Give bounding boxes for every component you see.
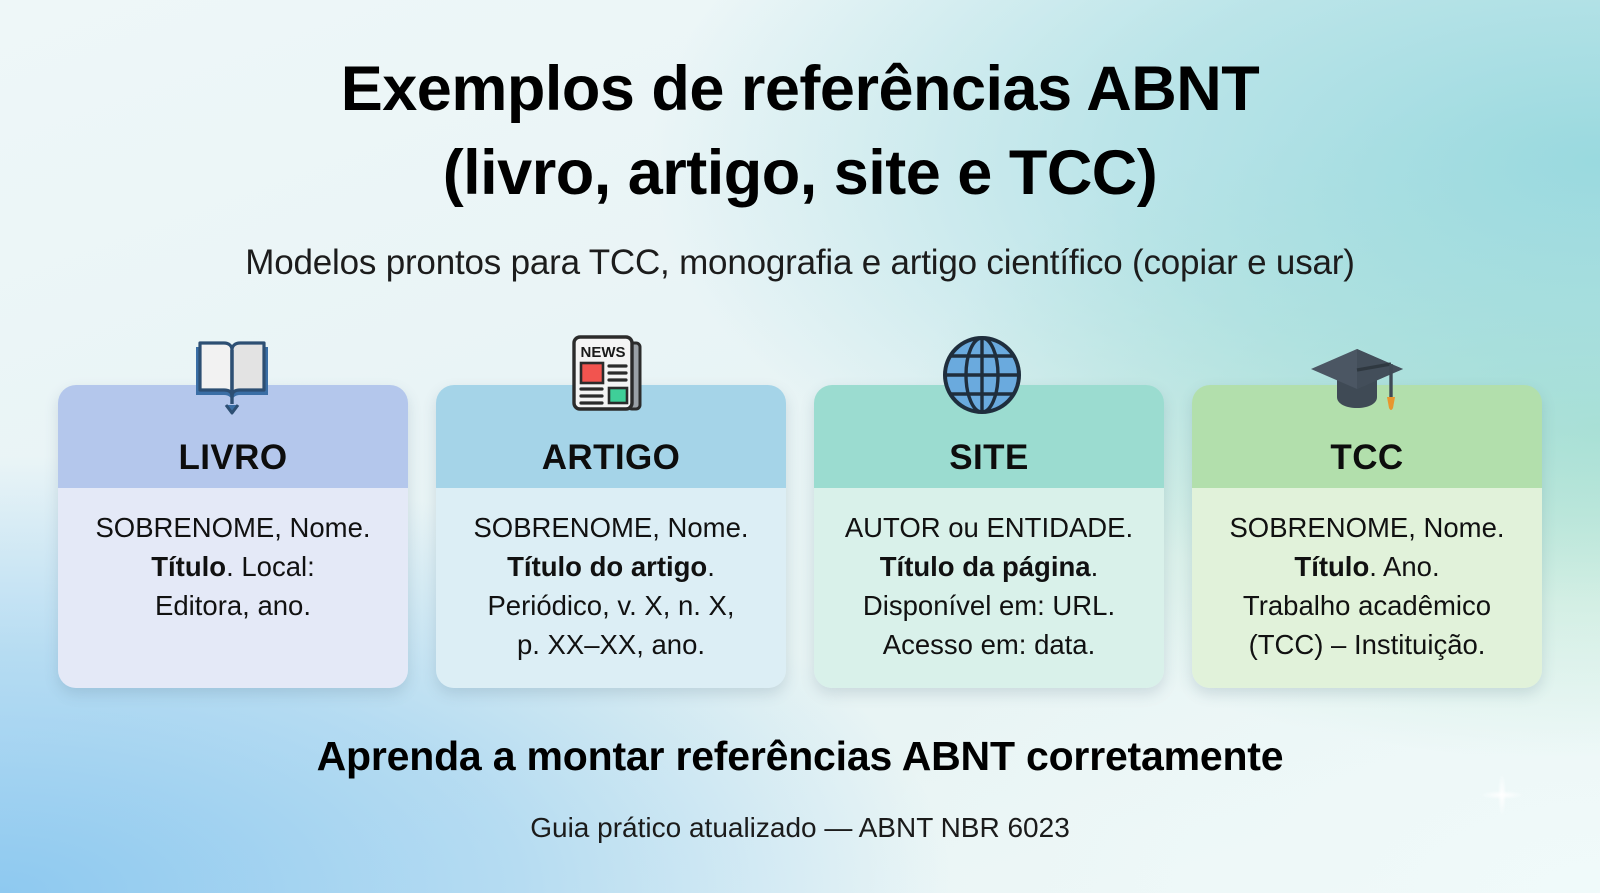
footer-note: Guia prático atualizado — ABNT NBR 6023 <box>0 812 1600 844</box>
card-line: Trabalho acadêmico <box>1202 586 1532 625</box>
card-line-text: . Ano. <box>1369 551 1439 582</box>
card-line-bold: Título da página <box>880 551 1091 582</box>
infographic-canvas: Exemplos de referências ABNT (livro, art… <box>0 0 1600 893</box>
card-line-text: p. XX–XX, ano. <box>517 629 705 660</box>
card-line: Disponível em: URL. <box>824 586 1154 625</box>
card-line-bold: Título do artigo <box>507 551 707 582</box>
card-line-text: Trabalho acadêmico <box>1243 590 1491 621</box>
card-line-text: SOBRENOME, Nome. <box>473 512 748 543</box>
card-header-tcc: TCC <box>1192 385 1542 488</box>
card-body-tcc: SOBRENOME, Nome.Título. Ano.Trabalho aca… <box>1192 488 1542 688</box>
card-label-artigo: ARTIGO <box>542 438 681 478</box>
card-body-livro: SOBRENOME, Nome.Título. Local:Editora, a… <box>58 488 408 688</box>
reference-card-artigo[interactable]: ARTIGOSOBRENOME, Nome.Título do artigo.P… <box>436 385 786 688</box>
card-line-text: SOBRENOME, Nome. <box>95 512 370 543</box>
card-line-text: . <box>1091 551 1099 582</box>
reference-card-livro[interactable]: LIVROSOBRENOME, Nome.Título. Local:Edito… <box>58 385 408 688</box>
card-line-text: Acesso em: data. <box>883 629 1095 660</box>
card-line-text: . <box>707 551 715 582</box>
card-line: Periódico, v. X, n. X, <box>446 586 776 625</box>
page-title-line-1: Exemplos de referências ABNT <box>341 54 1260 124</box>
card-line-bold: Título <box>1294 551 1369 582</box>
card-body-site: AUTOR ou ENTIDADE.Título da página.Dispo… <box>814 488 1164 688</box>
card-header-site: SITE <box>814 385 1164 488</box>
card-line: Acesso em: data. <box>824 625 1154 664</box>
card-label-livro: LIVRO <box>179 438 288 478</box>
card-label-site: SITE <box>949 438 1028 478</box>
card-line: Editora, ano. <box>68 586 398 625</box>
page-subtitle: Modelos prontos para TCC, monografia e a… <box>0 243 1600 283</box>
card-line: SOBRENOME, Nome. <box>68 508 398 547</box>
card-line-text: (TCC) – Instituição. <box>1249 629 1486 660</box>
card-label-tcc: TCC <box>1330 438 1403 478</box>
card-header-artigo: ARTIGO <box>436 385 786 488</box>
card-line-text: AUTOR ou ENTIDADE. <box>845 512 1133 543</box>
card-line-text: Periódico, v. X, n. X, <box>487 590 734 621</box>
card-line-text: . Local: <box>226 551 315 582</box>
call-to-action-text: Aprenda a montar referências ABNT corret… <box>0 733 1600 780</box>
card-line: SOBRENOME, Nome. <box>1202 508 1532 547</box>
card-line: Título. Ano. <box>1202 547 1532 586</box>
card-line: Título do artigo. <box>446 547 776 586</box>
card-body-artigo: SOBRENOME, Nome.Título do artigo.Periódi… <box>436 488 786 688</box>
card-line: (TCC) – Instituição. <box>1202 625 1532 664</box>
card-line: Título. Local: <box>68 547 398 586</box>
card-line-text: Editora, ano. <box>155 590 311 621</box>
card-line: p. XX–XX, ano. <box>446 625 776 664</box>
card-line: Título da página. <box>824 547 1154 586</box>
card-line-text: SOBRENOME, Nome. <box>1229 512 1504 543</box>
reference-card-tcc[interactable]: TCCSOBRENOME, Nome.Título. Ano.Trabalho … <box>1192 385 1542 688</box>
reference-type-cards: LIVROSOBRENOME, Nome.Título. Local:Edito… <box>58 385 1542 688</box>
card-line: SOBRENOME, Nome. <box>446 508 776 547</box>
card-line: AUTOR ou ENTIDADE. <box>824 508 1154 547</box>
page-title: Exemplos de referências ABNT (livro, art… <box>0 48 1600 216</box>
card-line-text: Disponível em: URL. <box>863 590 1115 621</box>
reference-card-site[interactable]: SITEAUTOR ou ENTIDADE.Título da página.D… <box>814 385 1164 688</box>
card-header-livro: LIVRO <box>58 385 408 488</box>
svg-text:NEWS: NEWS <box>580 344 625 361</box>
card-line-bold: Título <box>151 551 226 582</box>
page-title-line-2: (livro, artigo, site e TCC) <box>0 132 1600 216</box>
